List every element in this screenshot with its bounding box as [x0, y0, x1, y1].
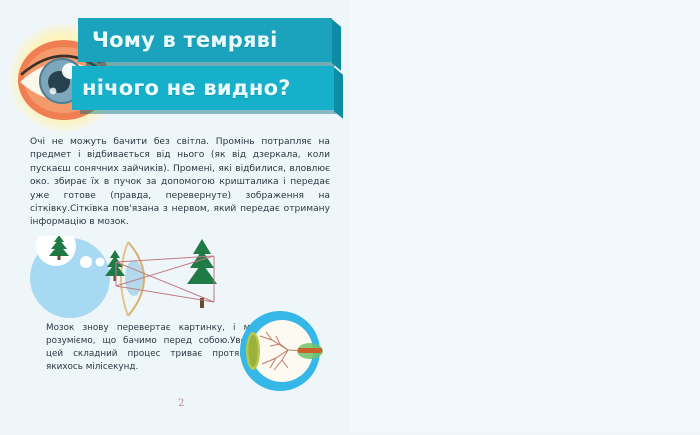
page-number-left: 2 [178, 398, 184, 409]
title-line-2: нічого не видно? [72, 66, 334, 110]
book-spread: Чому в темряві нічого не видно? Очі не м… [0, 0, 700, 431]
right-page: Є інші органи, які допомагають нам пізна… [350, 0, 700, 431]
intro-paragraph: Очі не можуть бачити без світла. Промінь… [30, 136, 330, 230]
retina-cross-section-icon [232, 306, 328, 396]
left-page: Чому в темряві нічого не видно? Очі не м… [0, 0, 350, 431]
title-line-1: Чому в темряві [78, 18, 332, 62]
closing-paragraph: Мозок знову перевертає картинку, і ми ро… [46, 322, 256, 374]
eye-ray-diagram-icon [18, 236, 238, 326]
title-banner: Чому в темряві нічого не видно? [72, 16, 332, 116]
